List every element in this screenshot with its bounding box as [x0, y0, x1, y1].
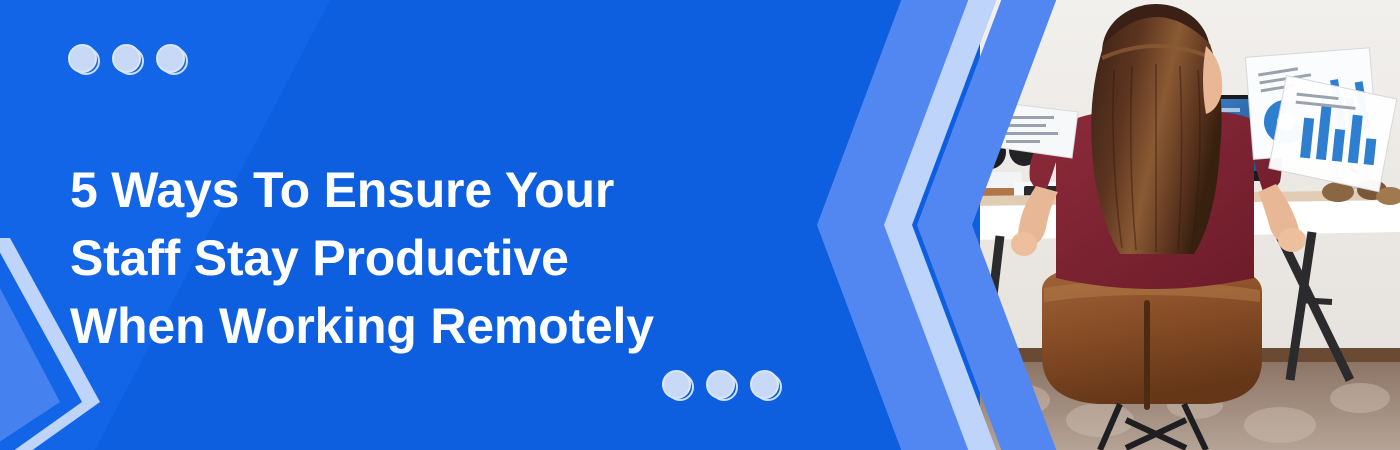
dot-fill	[112, 44, 141, 73]
decorative-dot	[750, 370, 782, 402]
bottom-center-dots	[662, 370, 782, 402]
decorative-dot	[662, 370, 694, 402]
dot-fill	[750, 370, 779, 399]
remote-worker-photo	[980, 0, 1400, 450]
article-hero-banner: 5 Ways To Ensure Your Staff Stay Product…	[0, 0, 1400, 450]
headline-line-3: When Working Remotely	[70, 292, 770, 360]
decorative-dot	[156, 44, 188, 76]
dot-fill	[662, 370, 691, 399]
banner-headline: 5 Ways To Ensure Your Staff Stay Product…	[70, 156, 770, 360]
headline-line-1: 5 Ways To Ensure Your	[70, 156, 770, 224]
decorative-dot	[112, 44, 144, 76]
top-left-dots	[68, 44, 188, 76]
dot-fill	[156, 44, 185, 73]
decorative-dot	[68, 44, 100, 76]
headline-line-2: Staff Stay Productive	[70, 224, 770, 292]
dot-fill	[68, 44, 97, 73]
decorative-dot	[706, 370, 738, 402]
dot-fill	[706, 370, 735, 399]
